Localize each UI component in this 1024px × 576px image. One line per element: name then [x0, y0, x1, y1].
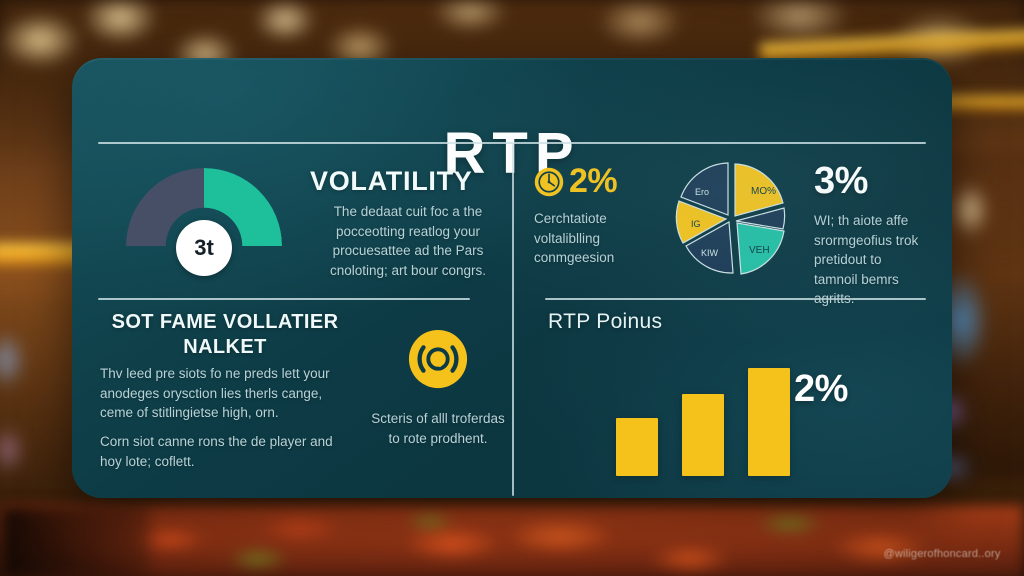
svg-text:Ero: Ero — [695, 187, 709, 197]
divider-vertical — [512, 144, 514, 496]
distribution-section: 2% Cerchtatiote voltaliblling conmgeesio… — [524, 150, 926, 296]
rtp-points-heading: RTP Poinus — [548, 310, 662, 334]
stat-left-caption: Cerchtatiote voltaliblling conmgeesion — [534, 209, 646, 268]
coin-icon — [407, 328, 469, 390]
svg-text:IG: IG — [691, 219, 701, 229]
pie-svg: MO% VEH KIW IG — [666, 152, 798, 292]
svg-text:VEH: VEH — [749, 245, 770, 256]
volatility-gauge: 3t — [126, 168, 282, 268]
pie-slice-veh: VEH — [737, 223, 784, 274]
coin-block: Scteris of alll troferdas to rote prodhe… — [370, 328, 506, 448]
slot-volatility-section: SOT FAME VOLLATIER NALKET Thv leed pre s… — [98, 306, 506, 488]
rtp-points-bar-chart — [616, 350, 790, 476]
watermark: @wiligerofhoncard..ory — [860, 548, 1024, 560]
slot-volatility-paragraph-1: Thv leed pre siots fo ne preds lett your… — [100, 364, 338, 423]
volatility-heading: VOLATILITY — [310, 166, 506, 197]
rtp-points-section: RTP Poinus 2% — [524, 306, 926, 488]
slot-volatility-heading: SOT FAME VOLLATIER NALKET — [100, 310, 350, 360]
stat-right-caption: WI; th aiote affe srormgeofius trok pret… — [814, 211, 926, 309]
bar-3 — [748, 368, 790, 476]
slot-volatility-paragraph-2: Corn siot canne rons the de player and h… — [100, 432, 338, 471]
svg-text:KIW: KIW — [701, 248, 719, 258]
volatility-section: 3t VOLATILITY The dedaat cuit foc a the … — [98, 150, 506, 296]
svg-text:MO%: MO% — [751, 186, 776, 197]
volatility-body: The dedaat cuit foc a the pocceotting re… — [310, 202, 506, 280]
divider-middle-left — [98, 298, 470, 300]
infographic-card: RTP 3t VOLATILITY The dedaat cuit foc a … — [72, 58, 952, 498]
stat-left-value: 2% — [569, 162, 617, 201]
stat-left-block: 2% Cerchtatiote voltaliblling conmgeesio… — [534, 162, 646, 268]
distribution-pie-chart: MO% VEH KIW IG — [666, 152, 798, 292]
bar-2 — [682, 394, 724, 476]
stat-right-block: 3% WI; th aiote affe srormgeofius trok p… — [814, 160, 926, 309]
gauge-value: 3t — [176, 220, 232, 276]
rtp-points-value: 2% — [794, 368, 848, 411]
volatility-text-block: VOLATILITY The dedaat cuit foc a the poc… — [310, 166, 506, 280]
stat-left-row: 2% — [534, 162, 646, 201]
stat-right-value: 3% — [814, 160, 926, 203]
pie-slice-mo: MO% — [735, 164, 783, 216]
coin-block-caption: Scteris of alll troferdas to rote prodhe… — [370, 409, 506, 448]
clock-icon — [534, 167, 564, 197]
bar-1 — [616, 418, 658, 476]
